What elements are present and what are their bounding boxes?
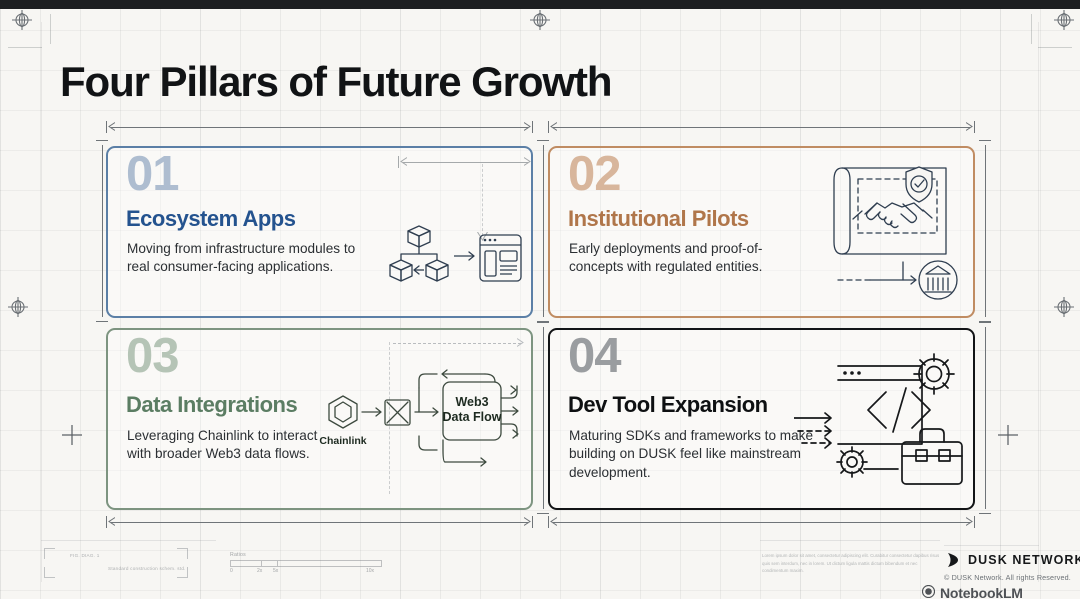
dimension-arrow-top-right [548,121,975,133]
pillar-card-03[interactable]: 03 Data Integrations Leveraging Chainlin… [106,328,533,510]
ratio-tick: 5x [273,568,278,574]
margin-tick-top-right [1038,47,1072,48]
pillar-heading: Data Integrations [126,392,297,418]
registration-mark-icon [10,8,34,32]
registration-mark-icon [1052,8,1076,32]
footer-rule-left [41,540,216,541]
notebooklm-label: NotebookLM [940,585,1023,599]
micro-note-text: Standard construction schem. std. [108,566,186,571]
margin-rule-right [1031,14,1032,44]
slide-canvas: Four Pillars of Future Growth [0,0,1080,599]
pillar-body: Maturing SDKs and frameworks to make bui… [569,427,827,482]
brand-logo: DUSK NETWORK [944,552,1080,568]
pillar-number: 03 [126,332,179,381]
copyright-text: © DUSK Network. All rights Reserved. [944,573,1071,582]
pillar-heading: Dev Tool Expansion [568,392,768,418]
dimension-arrow-bottom-right [548,516,975,528]
pillar-body: Moving from infrastructure modules to re… [127,240,372,277]
pillar-card-04[interactable]: 04 Dev Tool Expansion Maturing SDKs and … [548,328,975,510]
inner-frame-right [1038,22,1039,582]
ratio-label: Ratios [230,552,382,558]
placeholder-paragraph: Lorem ipsum dolor sit amet, consectetur … [762,552,940,575]
dimension-arrow-vertical-right-lower [979,322,991,514]
margin-tick-top-left [8,47,42,48]
dusk-crescent-icon [944,552,960,568]
brand-name: DUSK NETWORK [968,553,1080,567]
ratio-tick: 10x [366,568,374,574]
cubes-to-browser-icon [388,225,523,308]
registration-mark-icon [6,295,30,319]
crop-note-text: FIG. DIAG. 1 [70,553,100,558]
pillar-number: 04 [568,332,621,381]
page-title: Four Pillars of Future Growth [60,58,611,106]
dataflow-label-line1: Web3 [455,395,488,409]
crop-mark-box [44,548,188,578]
ratio-tick: 0 [230,568,233,574]
pillar-heading: Ecosystem Apps [126,206,295,232]
pillar-card-01[interactable]: 01 Ecosystem Apps Moving from infrastruc… [106,146,533,318]
pillar-card-02[interactable]: 02 Institutional Pilots Early deployment… [548,146,975,318]
footer-rule-brand [944,545,1039,546]
ratio-scale: Ratios 0 2x 5x 10x [230,552,382,577]
footer-rule-right [760,540,940,541]
dimension-arrow-bottom-left [106,516,533,528]
registration-mark-icon [1052,295,1076,319]
crosshair-mark-icon [62,425,82,445]
dimension-arrow-vertical-right [979,140,991,322]
notebooklm-watermark: NotebookLM [922,585,1023,599]
pillar-number: 01 [126,150,179,199]
code-gear-toolbox-icon [794,344,969,499]
pillar-body: Leveraging Chainlink to interact with br… [127,427,327,464]
pillar-body: Early deployments and proof-of-concepts … [569,240,769,277]
ratio-ticks: 0 2x 5x 10x [230,568,382,577]
chainlink-dataflow-icon: Web3 Data Flow Chainlink [317,346,527,501]
inner-frame-left [41,22,42,582]
dataflow-label-line2: Data Flow [442,410,501,424]
pillar-heading: Institutional Pilots [568,206,749,232]
ratio-tick: 2x [257,568,262,574]
pillar-number: 02 [568,150,621,199]
registration-mark-icon [528,8,552,32]
notebooklm-icon [922,585,935,599]
chainlink-label: Chainlink [319,435,366,447]
dimension-arrow-top-left [106,121,533,133]
handshake-shield-blueprint-icon [825,154,965,314]
ratio-track [230,560,382,567]
margin-rule-left [50,14,51,44]
crosshair-mark-icon [998,425,1018,445]
